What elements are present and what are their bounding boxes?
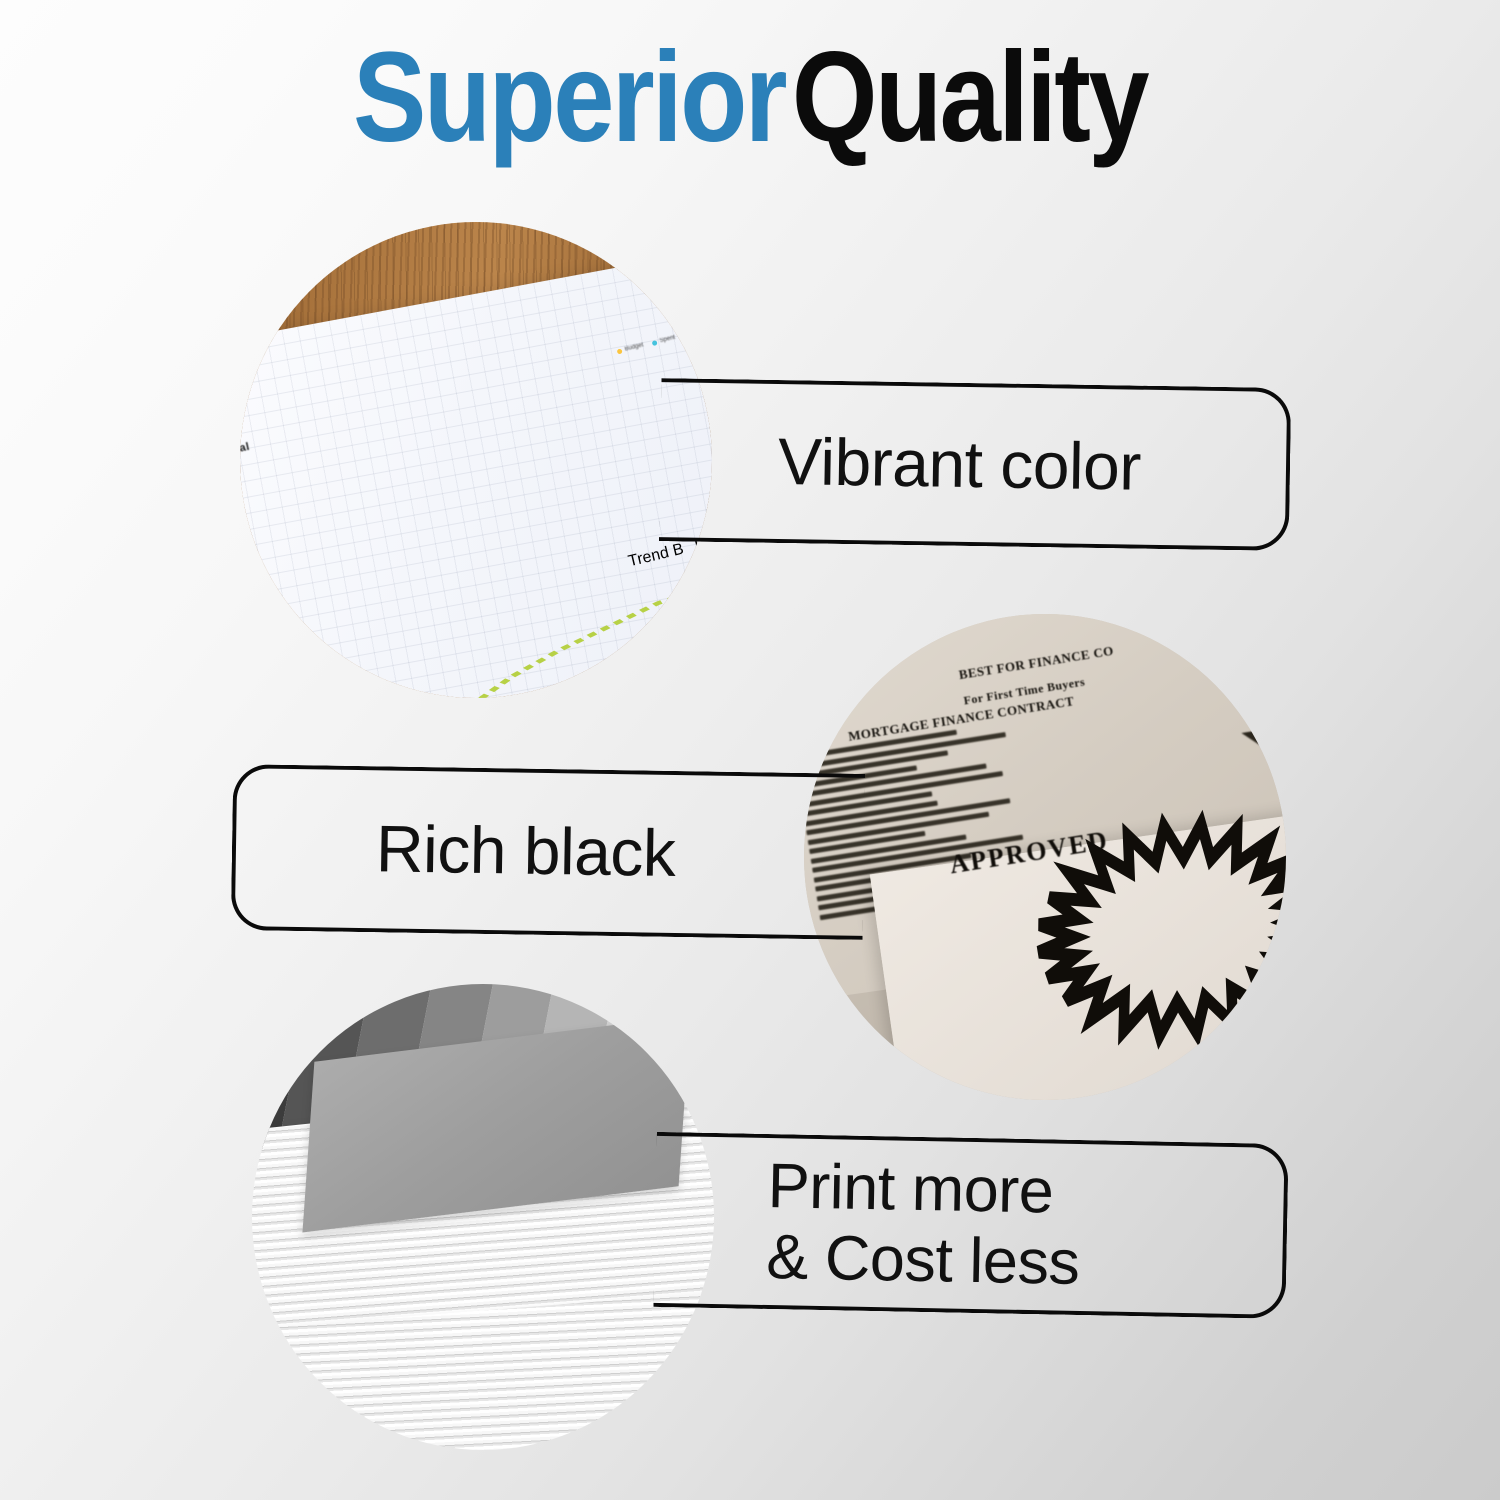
callout-print-more-cost-less-text: Print more & Cost less xyxy=(766,1151,1082,1298)
page-title-accent-word: Superior xyxy=(353,26,785,169)
page-title: SuperiorQuality xyxy=(105,34,1395,162)
legend-swatch-forecast xyxy=(683,332,689,338)
callout-rich-black-label: Rich black xyxy=(375,812,676,891)
photo-approved-document: BEST FOR FINANCE CO For First Time Buyer… xyxy=(804,614,1286,1100)
callout-vibrant-color[interactable]: Vibrant color xyxy=(659,378,1291,551)
callout-line-1: Print more xyxy=(767,1151,1081,1228)
page-title-dark-word: Quality xyxy=(792,26,1147,169)
infographic-canvas: SuperiorQuality Financial Growth rate Bu… xyxy=(0,0,1500,1500)
photo-paper-stack xyxy=(252,984,714,1450)
legend-swatch-spent xyxy=(652,340,658,346)
callout-vibrant-color-label: Vibrant color xyxy=(777,425,1141,505)
callout-line-2: & Cost less xyxy=(766,1222,1080,1299)
callout-print-more-cost-less[interactable]: Print more & Cost less xyxy=(653,1132,1288,1319)
photo-chart-printout: Financial Growth rate Budget Spent Forec… xyxy=(240,222,712,698)
document-dark-corner xyxy=(1241,729,1268,754)
callout-rich-black[interactable]: Rich black xyxy=(231,764,866,940)
legend-swatch-budget xyxy=(617,348,623,354)
